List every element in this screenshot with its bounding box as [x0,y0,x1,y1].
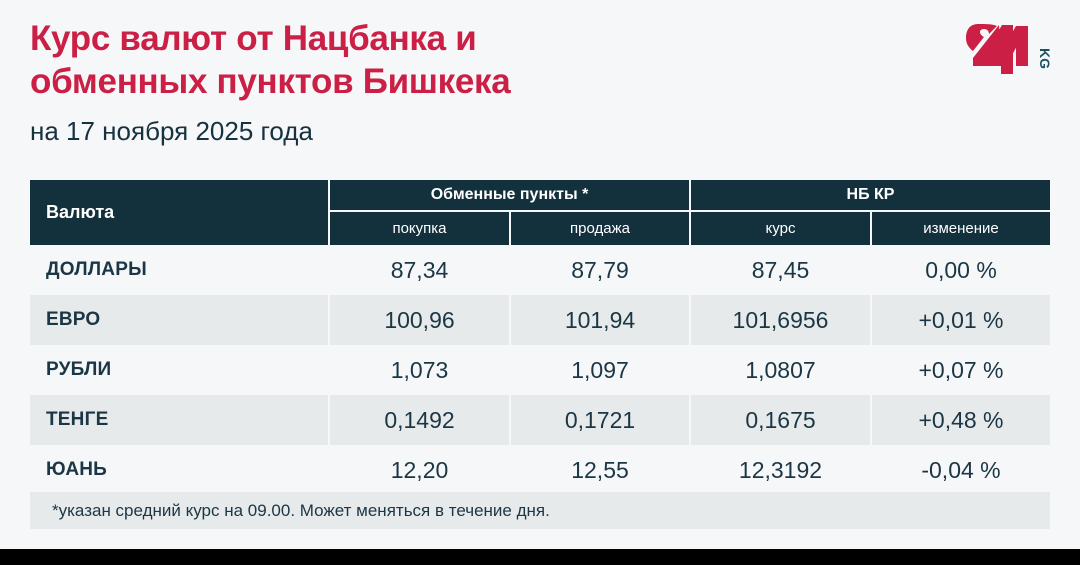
table-row: ЮАНЬ 12,20 12,55 12,3192 -0,04 % [30,445,1050,495]
table-row: РУБЛИ 1,073 1,097 1,0807 +0,07 % [30,345,1050,395]
column-header-sell: продажа [510,211,690,245]
cell-sell: 0,1721 [510,395,690,445]
cell-currency: ТЕНГЕ [30,395,329,445]
column-header-buy: покупка [329,211,510,245]
table-row: ДОЛЛАРЫ 87,34 87,79 87,45 0,00 % [30,245,1050,295]
infographic-page: Курс валют от Нацбанка и обменных пункто… [0,0,1080,565]
cell-buy: 1,073 [329,345,510,395]
table-footnote: *указан средний курс на 09.00. Может мен… [30,492,1050,529]
cell-change: -0,04 % [871,445,1050,495]
footnote-text: *указан средний курс на 09.00. Может мен… [30,501,550,521]
cell-currency: ДОЛЛАРЫ [30,245,329,295]
cell-buy: 12,20 [329,445,510,495]
cell-sell: 87,79 [510,245,690,295]
page-title: Курс валют от Нацбанка и обменных пункто… [30,18,930,103]
cell-rate: 87,45 [690,245,871,295]
column-header-currency: Валюта [30,180,329,245]
cell-rate: 0,1675 [690,395,871,445]
cell-buy: 87,34 [329,245,510,295]
column-header-change: изменение [871,211,1050,245]
cell-change: 0,00 % [871,245,1050,295]
page-header: Курс валют от Нацбанка и обменных пункто… [30,18,930,146]
table-head-row-groups: Валюта Обменные пункты * НБ КР [30,180,1050,211]
column-header-rate: курс [690,211,871,245]
cell-sell: 1,097 [510,345,690,395]
cell-currency: РУБЛИ [30,345,329,395]
table-row: ЕВРО 100,96 101,94 101,6956 +0,01 % [30,295,1050,345]
cell-change: +0,01 % [871,295,1050,345]
bottom-bar [0,549,1080,565]
logo-kg-text: KG [1037,48,1052,69]
column-group-header-nbkr: НБ КР [690,180,1050,211]
24kg-logo: KG [966,22,1052,78]
cell-change: +0,48 % [871,395,1050,445]
cell-sell: 101,94 [510,295,690,345]
cell-rate: 1,0807 [690,345,871,395]
cell-rate: 12,3192 [690,445,871,495]
cell-buy: 100,96 [329,295,510,345]
rates-table-container: Валюта Обменные пункты * НБ КР покупка п… [30,180,1050,495]
cell-change: +0,07 % [871,345,1050,395]
table-body: ДОЛЛАРЫ 87,34 87,79 87,45 0,00 % ЕВРО 10… [30,245,1050,495]
svg-text:KG: KG [1037,48,1052,69]
cell-currency: ЕВРО [30,295,329,345]
logo-24-mark [966,24,1028,74]
table-row: ТЕНГЕ 0,1492 0,1721 0,1675 +0,48 % [30,395,1050,445]
cell-sell: 12,55 [510,445,690,495]
table-head: Валюта Обменные пункты * НБ КР покупка п… [30,180,1050,245]
column-group-header-exchange-offices: Обменные пункты * [329,180,690,211]
exchange-rates-table: Валюта Обменные пункты * НБ КР покупка п… [30,180,1050,495]
page-subtitle: на 17 ноября 2025 года [30,117,930,146]
cell-buy: 0,1492 [329,395,510,445]
cell-rate: 101,6956 [690,295,871,345]
cell-currency: ЮАНЬ [30,445,329,495]
